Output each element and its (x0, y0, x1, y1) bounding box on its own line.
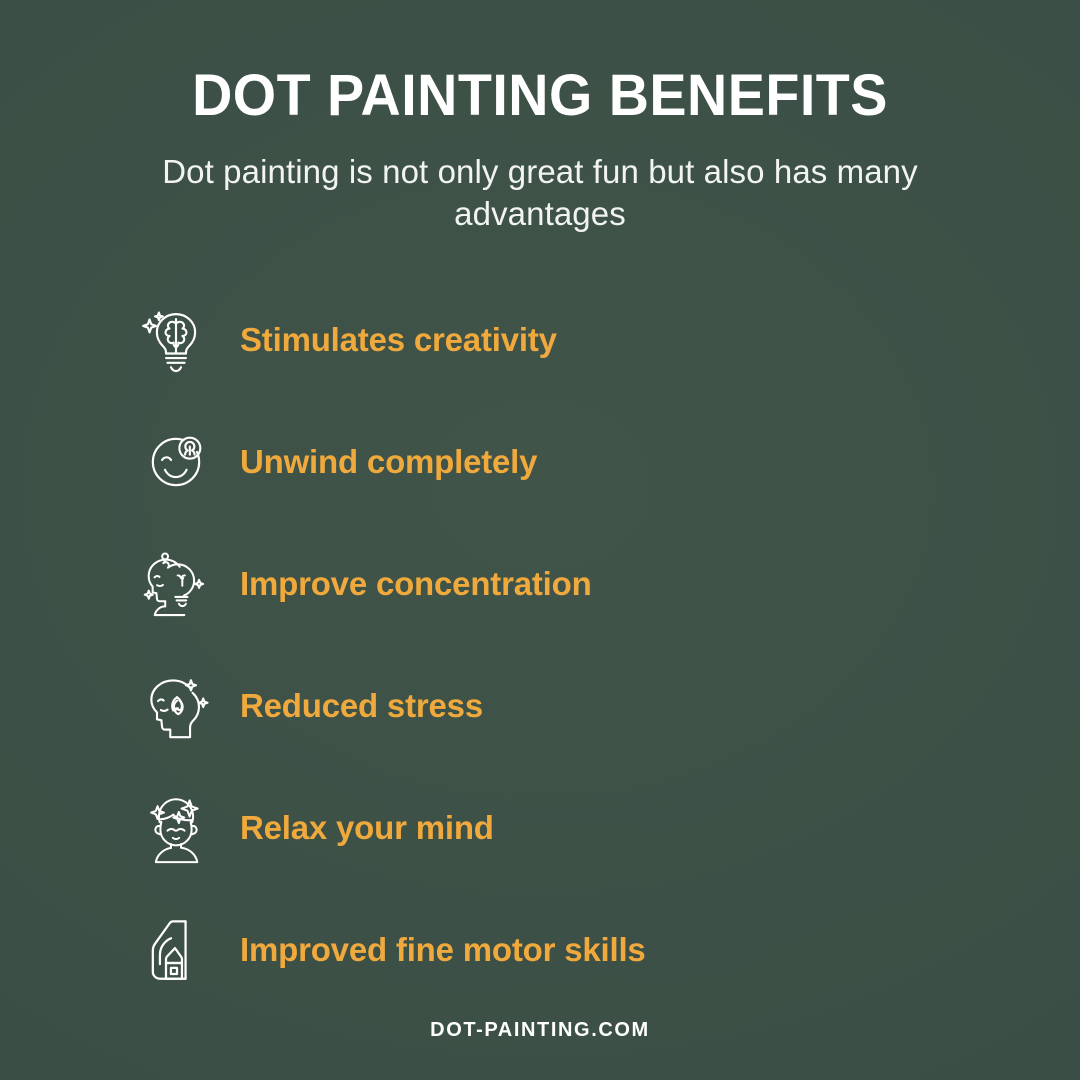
benefits-poster: DOT PAINTING BENEFITS Dot painting is no… (0, 0, 1080, 1080)
list-item: Improved fine motor skills (138, 889, 1080, 1011)
page-subtitle: Dot painting is not only great fun but a… (145, 151, 935, 235)
head-profile-lightbulb-icon (138, 546, 214, 622)
list-item-label: Stimulates creativity (240, 321, 557, 359)
list-item-label: Improved fine motor skills (240, 931, 646, 969)
hand-holding-tool-icon (138, 912, 214, 988)
lightbulb-brain-icon (138, 302, 214, 378)
page-title: DOT PAINTING BENEFITS (22, 66, 1059, 127)
list-item-label: Reduced stress (240, 687, 483, 725)
head-profile-lotus-icon (138, 668, 214, 744)
list-item-label: Relax your mind (240, 809, 494, 847)
poster-header: DOT PAINTING BENEFITS Dot painting is no… (0, 0, 1080, 235)
website-url: DOT-PAINTING.COM (430, 1019, 650, 1041)
list-item: Relax your mind (138, 767, 1080, 889)
smiling-face-flower-icon (138, 424, 214, 500)
list-item: Reduced stress (138, 645, 1080, 767)
list-item: Stimulates creativity (138, 279, 1080, 401)
relaxed-face-stars-icon (138, 790, 214, 866)
list-item: Unwind completely (138, 401, 1080, 523)
list-item-label: Improve concentration (240, 565, 592, 603)
benefits-list: Stimulates creativity Unwind completely (0, 279, 1080, 1011)
list-item: Improve concentration (138, 523, 1080, 645)
poster-footer: DOT-PAINTING.COM (0, 1019, 1080, 1042)
list-item-label: Unwind completely (240, 443, 537, 481)
